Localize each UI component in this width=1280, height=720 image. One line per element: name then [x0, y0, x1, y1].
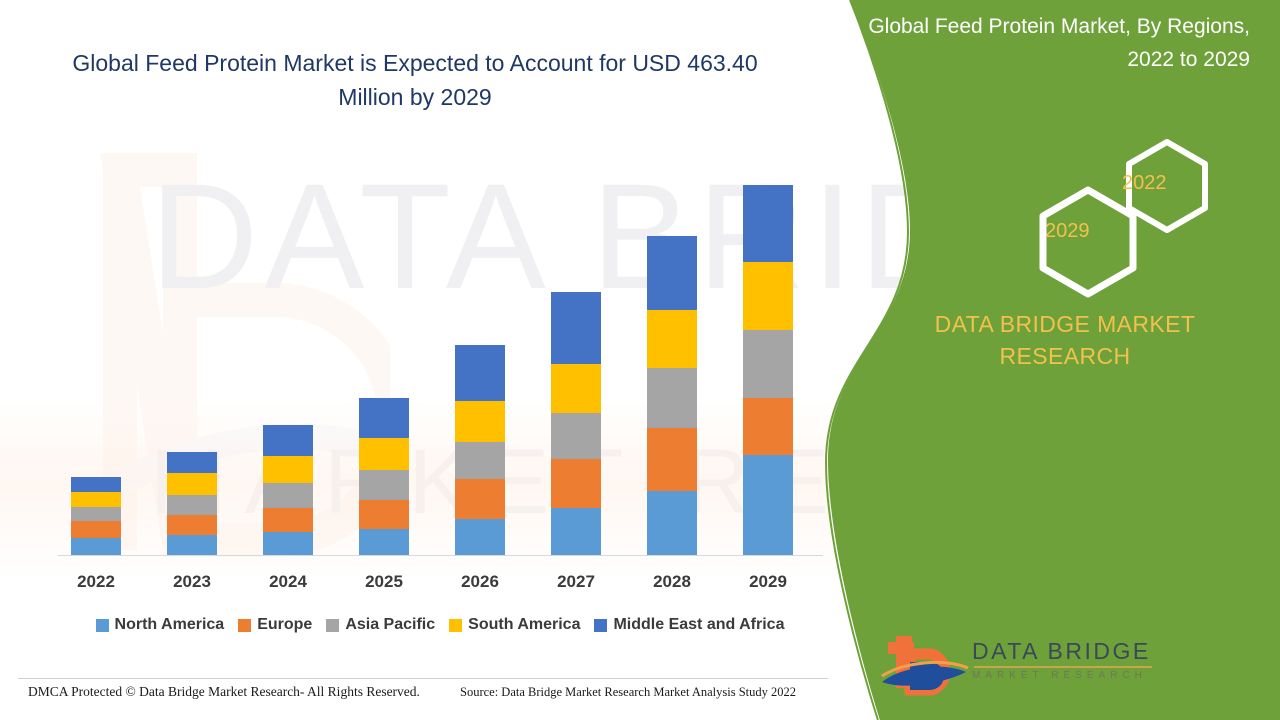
bar-segment-2024-south-america: [263, 456, 313, 483]
legend-item-asia-pacific[interactable]: Asia Pacific: [326, 616, 435, 634]
logo-main-text: DATA BRIDGE: [972, 638, 1152, 665]
legend-label: Asia Pacific: [345, 616, 435, 634]
legend-label: South America: [468, 616, 580, 634]
bar-segment-2026-north-america: [455, 519, 505, 555]
legend-swatch-icon: [449, 619, 462, 632]
bar-segment-2026-middle-east-and-africa: [455, 345, 505, 401]
footer-copyright: DMCA Protected © Data Bridge Market Rese…: [28, 684, 420, 700]
data-bridge-logo: DATA BRIDGE MARKET RESEARCH: [880, 632, 1180, 702]
bar-segment-2023-north-america: [167, 535, 217, 555]
x-axis-labels: 20222023202420252026202720282029: [50, 572, 825, 598]
hex-badge-2022: 2022: [1122, 172, 1167, 195]
bar-segment-2022-south-america: [71, 492, 121, 507]
hex-badge-2029: 2029: [1045, 220, 1090, 243]
bar-segment-2024-middle-east-and-africa: [263, 425, 313, 456]
x-axis-label-2029: 2029: [733, 572, 803, 592]
bar-segment-2028-south-america: [647, 310, 697, 368]
legend-swatch-icon: [96, 619, 109, 632]
bar-segment-2023-south-america: [167, 473, 217, 495]
legend-item-middle-east-and-africa[interactable]: Middle East and Africa: [594, 616, 784, 634]
logo-text-block: DATA BRIDGE MARKET RESEARCH: [972, 638, 1152, 681]
bar-segment-2028-middle-east-and-africa: [647, 236, 697, 310]
right-green-panel: Global Feed Protein Market, By Regions, …: [820, 0, 1280, 720]
x-axis-label-2022: 2022: [61, 572, 131, 592]
bar-segment-2025-asia-pacific: [359, 470, 409, 500]
bar-2022: [71, 477, 121, 555]
logo-sub-text: MARKET RESEARCH: [972, 670, 1152, 681]
bar-segment-2023-middle-east-and-africa: [167, 452, 217, 473]
legend-label: Middle East and Africa: [613, 616, 784, 634]
bar-segment-2024-north-america: [263, 532, 313, 555]
logo-mark-icon: [880, 632, 970, 696]
bar-segment-2025-north-america: [359, 529, 409, 555]
bar-2028: [647, 236, 697, 555]
chart-legend: North AmericaEuropeAsia PacificSouth Ame…: [50, 616, 830, 634]
x-axis-label-2027: 2027: [541, 572, 611, 592]
bar-segment-2029-europe: [743, 398, 793, 455]
legend-item-south-america[interactable]: South America: [449, 616, 580, 634]
bar-segment-2026-europe: [455, 479, 505, 519]
bar-segment-2027-middle-east-and-africa: [551, 292, 601, 364]
bar-segment-2026-south-america: [455, 401, 505, 442]
bar-segment-2029-middle-east-and-africa: [743, 185, 793, 262]
x-axis-label-2025: 2025: [349, 572, 419, 592]
x-axis-line: [58, 555, 823, 556]
legend-label: Europe: [257, 616, 312, 634]
hex-badge-group: 2022 2029: [920, 128, 1240, 298]
bar-segment-2026-asia-pacific: [455, 442, 505, 479]
bar-2024: [263, 425, 313, 555]
panel-brand-name: DATA BRIDGE MARKET RESEARCH: [880, 308, 1250, 372]
bar-segment-2027-north-america: [551, 508, 601, 555]
bar-2026: [455, 345, 505, 555]
bar-segment-2022-north-america: [71, 538, 121, 555]
bar-segment-2022-europe: [71, 521, 121, 538]
x-axis-label-2026: 2026: [445, 572, 515, 592]
chart-plot-area: [50, 140, 825, 556]
footer-source: Source: Data Bridge Market Research Mark…: [460, 685, 796, 700]
bar-segment-2025-middle-east-and-africa: [359, 398, 409, 438]
panel-brand-line-2: RESEARCH: [880, 340, 1250, 372]
infographic-canvas: DATA BRIDGE MARKET RESEARCH Global Feed …: [0, 0, 1280, 720]
bar-2029: [743, 185, 793, 555]
bar-segment-2029-south-america: [743, 262, 793, 330]
bar-segment-2024-europe: [263, 508, 313, 532]
chart-title: Global Feed Protein Market is Expected t…: [60, 46, 770, 114]
bar-2027: [551, 292, 601, 555]
x-axis-label-2024: 2024: [253, 572, 323, 592]
bar-segment-2027-asia-pacific: [551, 413, 601, 459]
bar-segment-2028-europe: [647, 428, 697, 491]
panel-title: Global Feed Protein Market, By Regions, …: [860, 10, 1250, 76]
legend-swatch-icon: [326, 619, 339, 632]
bar-segment-2025-europe: [359, 500, 409, 529]
bar-segment-2023-asia-pacific: [167, 495, 217, 515]
hex-outline-icon: [920, 128, 1240, 298]
bar-segment-2028-asia-pacific: [647, 368, 697, 428]
legend-swatch-icon: [594, 619, 607, 632]
legend-item-north-america[interactable]: North America: [96, 616, 225, 634]
logo-divider: [974, 666, 1152, 668]
bar-2025: [359, 398, 409, 555]
bar-segment-2029-north-america: [743, 455, 793, 555]
x-axis-label-2023: 2023: [157, 572, 227, 592]
bar-segment-2029-asia-pacific: [743, 330, 793, 398]
bar-segment-2022-middle-east-and-africa: [71, 477, 121, 492]
bar-segment-2023-europe: [167, 515, 217, 535]
bar-segment-2022-asia-pacific: [71, 507, 121, 521]
legend-swatch-icon: [238, 619, 251, 632]
panel-brand-line-1: DATA BRIDGE MARKET: [880, 308, 1250, 340]
bar-2023: [167, 452, 217, 555]
bar-segment-2027-europe: [551, 459, 601, 508]
bar-segment-2028-north-america: [647, 491, 697, 555]
bar-segment-2027-south-america: [551, 364, 601, 413]
footer-divider: [18, 678, 828, 679]
legend-label: North America: [115, 616, 225, 634]
x-axis-label-2028: 2028: [637, 572, 707, 592]
legend-item-europe[interactable]: Europe: [238, 616, 312, 634]
bar-segment-2025-south-america: [359, 438, 409, 470]
bar-segment-2024-asia-pacific: [263, 483, 313, 508]
